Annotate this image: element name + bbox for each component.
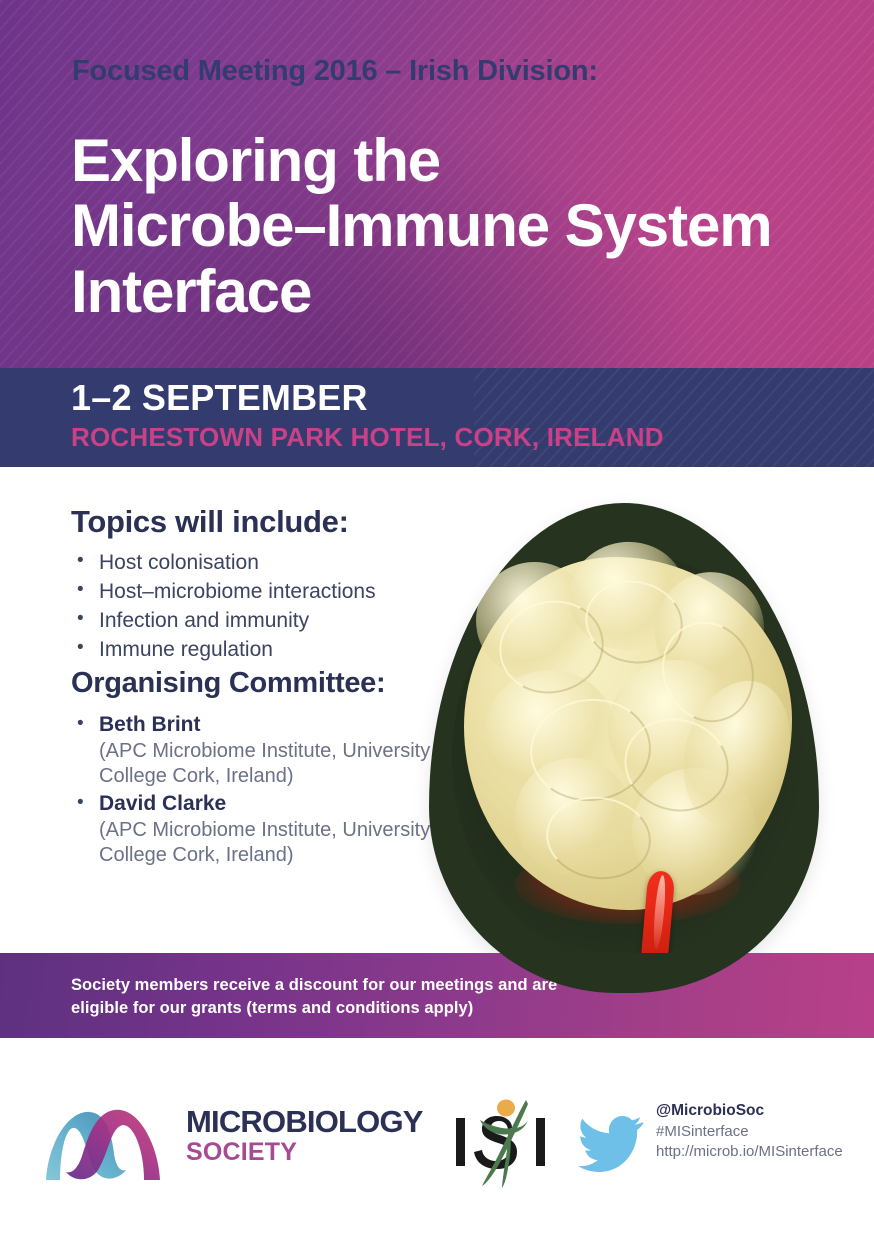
microbiology-society-logo: MICROBIOLOGY SOCIETY xyxy=(38,1094,408,1186)
title-line-3: Interface xyxy=(71,259,831,324)
list-item: Immune regulation xyxy=(71,636,451,664)
event-venue: ROCHESTOWN PARK HOTEL, CORK, IRELAND xyxy=(71,424,664,450)
committee-list: Beth Brint (APC Microbiome Institute, Un… xyxy=(71,712,501,869)
poster-header: Focused Meeting 2016 – Irish Division: E… xyxy=(0,0,874,368)
twitter-contact-block[interactable]: @MicrobioSoc #MISinterface http://microb… xyxy=(578,1098,868,1188)
date-band-stripe-texture xyxy=(474,368,874,467)
event-url[interactable]: http://microb.io/MISinterface xyxy=(656,1142,843,1162)
committee-heading: Organising Committee: xyxy=(71,667,385,700)
isi-letter-i-right xyxy=(536,1118,545,1166)
meeting-kicker: Focused Meeting 2016 – Irish Division: xyxy=(72,57,598,86)
list-item: Infection and immunity xyxy=(71,607,451,635)
society-mark-icon xyxy=(38,1094,168,1186)
list-item: Beth Brint (APC Microbiome Institute, Un… xyxy=(71,712,501,790)
topics-list: Host colonisation Host–microbiome intera… xyxy=(71,549,451,665)
twitter-bird-icon[interactable] xyxy=(578,1116,644,1172)
membership-discount-banner: Society members receive a discount for o… xyxy=(0,953,874,1038)
committee-member-affiliation: (APC Microbiome Institute, University Co… xyxy=(99,739,501,790)
society-wordmark: MICROBIOLOGY SOCIETY xyxy=(186,1106,423,1165)
isi-partner-logo xyxy=(450,1090,560,1195)
twitter-hashtag[interactable]: #MISinterface xyxy=(656,1122,843,1142)
wordmark-society: SOCIETY xyxy=(186,1140,423,1165)
title-line-2: Microbe–Immune System xyxy=(71,193,831,258)
date-venue-band: 1–2 SEPTEMBER ROCHESTOWN PARK HOTEL, COR… xyxy=(0,368,874,467)
twitter-text: @MicrobioSoc #MISinterface http://microb… xyxy=(656,1101,843,1162)
committee-member-name: Beth Brint xyxy=(99,712,501,739)
isi-logo-icon xyxy=(450,1090,560,1195)
topics-heading: Topics will include: xyxy=(71,504,349,540)
list-item: Host–microbiome interactions xyxy=(71,578,451,606)
conference-poster: Focused Meeting 2016 – Irish Division: E… xyxy=(0,0,874,1240)
discount-text: Society members receive a discount for o… xyxy=(71,974,591,1021)
poster-footer: MICROBIOLOGY SOCIETY xyxy=(0,1038,874,1240)
page-title: Exploring the Microbe–Immune System Inte… xyxy=(71,128,831,324)
title-line-1: Exploring the xyxy=(71,128,831,193)
isi-figure-head xyxy=(497,1100,515,1117)
wordmark-microbiology: MICROBIOLOGY xyxy=(186,1106,423,1137)
isi-letter-i-left xyxy=(456,1118,465,1166)
twitter-handle[interactable]: @MicrobioSoc xyxy=(656,1101,843,1122)
event-dates: 1–2 SEPTEMBER xyxy=(71,380,368,416)
committee-member-affiliation: (APC Microbiome Institute, University Co… xyxy=(99,818,501,869)
list-item: David Clarke (APC Microbiome Institute, … xyxy=(71,791,501,869)
list-item: Host colonisation xyxy=(71,549,451,577)
committee-member-name: David Clarke xyxy=(99,791,501,818)
